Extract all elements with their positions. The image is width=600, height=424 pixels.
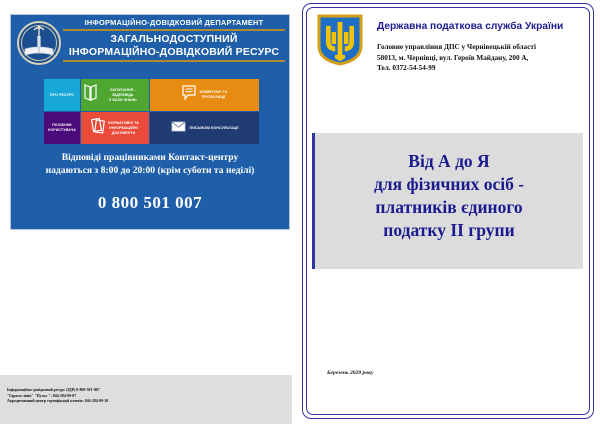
tile-label: НОРМАТИВНІ ТАІНФОРМАЦІЙНІДОКУМЕНТИ <box>108 121 139 136</box>
address-line-2: 58013, м. Чернівці, вул. Героїв Майдану,… <box>377 53 563 64</box>
open-book-icon <box>84 84 97 106</box>
idd-circular-emblem-icon <box>15 19 63 67</box>
document-page: Державна податкова служба України Головн… <box>302 3 594 419</box>
title-line-3: платників єдиного <box>315 196 583 219</box>
title-line-1: Від А до Я <box>315 150 583 173</box>
idd-department-line: ІНФОРМАЦІЙНО-ДОВІДКОВИЙ ДЕПАРТАМЕНТ <box>63 17 285 28</box>
document-date: Березень 2020 року <box>327 370 373 376</box>
title-line-2: для фізичних осіб - <box>315 173 583 196</box>
tile-question-answer[interactable]: ЗАПИТАННЯ - ВІДПОВІДЬЗ БАЗИ ЗНАНЬ <box>81 79 149 111</box>
gold-rule-bottom <box>63 60 285 62</box>
tile-label: ПИСЬМОВІ КОНСУЛЬТАЦІЇ <box>190 126 239 131</box>
document-title: Від А до Я для фізичних осіб - платників… <box>315 150 583 242</box>
idd-working-hours-note: Відповіді працівниками Контакт-центру на… <box>23 151 277 177</box>
title-line-4: податку ІІ групи <box>315 219 583 242</box>
tile-label: КОМЕНТАРІ ТАПРОПОЗИЦІЇ <box>200 90 228 100</box>
gold-rule-top <box>63 29 285 31</box>
document-header-text: Державна податкова служба України Головн… <box>377 14 563 74</box>
note-line-2: надаються з 8:00 до 20:00 (крім суботи т… <box>23 164 277 177</box>
tile-label: ЗАПИТАННЯ - ВІДПОВІДЬЗ БАЗИ ЗНАНЬ <box>100 88 146 103</box>
organization-address: Головне управління ДПС у Чернівецькій об… <box>377 42 563 74</box>
tile-label: ПРО РЕСУРС <box>50 93 74 98</box>
envelope-icon <box>171 119 187 138</box>
footer-line-3: Акредитований центр сертифікації ключів:… <box>7 399 108 405</box>
organization-name: Державна податкова служба України <box>377 21 563 32</box>
idd-title-line2: ІНФОРМАЦІЙНО-ДОВІДКОВИЙ РЕСУРС <box>63 46 285 59</box>
address-line-1: Головне управління ДПС у Чернівецькій об… <box>377 42 563 53</box>
idd-banner-header: ІНФОРМАЦІЙНО-ДОВІДКОВИЙ ДЕПАРТАМЕНТ ЗАГА… <box>11 15 289 71</box>
footer-line-1: Інформаційно-довідковий ресурс (ІДР) 0-8… <box>7 388 108 394</box>
speech-bubble-icon <box>182 85 197 106</box>
contacts-footer-strip: Інформаційно-довідковий ресурс (ІДР) 0-8… <box>0 375 292 424</box>
note-line-1: Відповіді працівниками Контакт-центру <box>23 151 277 164</box>
document-header: Державна податкова служба України Головн… <box>317 14 581 74</box>
tile-user-guide[interactable]: ПОСІБНИККОРИСТУВАЧА <box>44 112 80 144</box>
footer-contact-lines: Інформаційно-довідковий ресурс (ІДР) 0-8… <box>7 388 108 405</box>
tile-label: ПОСІБНИККОРИСТУВАЧА <box>48 123 76 133</box>
tile-comments-suggestions[interactable]: КОМЕНТАРІ ТАПРОПОЗИЦІЇ <box>150 79 259 111</box>
idd-title-line1: ЗАГАЛЬНОДОСТУПНИЙ <box>63 33 285 46</box>
documents-icon <box>91 117 105 139</box>
idd-header-text: ІНФОРМАЦІЙНО-ДОВІДКОВИЙ ДЕПАРТАМЕНТ ЗАГА… <box>63 17 285 62</box>
tile-pro-resurs[interactable]: ПРО РЕСУРС <box>44 79 80 111</box>
idd-promo-banner: ІНФОРМАЦІЙНО-ДОВІДКОВИЙ ДЕПАРТАМЕНТ ЗАГА… <box>10 14 290 230</box>
tile-normative-documents[interactable]: НОРМАТИВНІ ТАІНФОРМАЦІЙНІДОКУМЕНТИ <box>81 112 149 144</box>
ukraine-trident-coat-of-arms-icon <box>317 14 363 74</box>
idd-tile-grid: ПРО РЕСУРС ЗАПИТАННЯ - ВІДПОВІДЬЗ БАЗИ З… <box>44 79 259 144</box>
address-line-3: Тел. 0372-54-54-99 <box>377 63 563 74</box>
tile-written-consultations[interactable]: ПИСЬМОВІ КОНСУЛЬТАЦІЇ <box>150 112 259 144</box>
idd-hotline-phone: 0 800 501 007 <box>11 193 289 213</box>
